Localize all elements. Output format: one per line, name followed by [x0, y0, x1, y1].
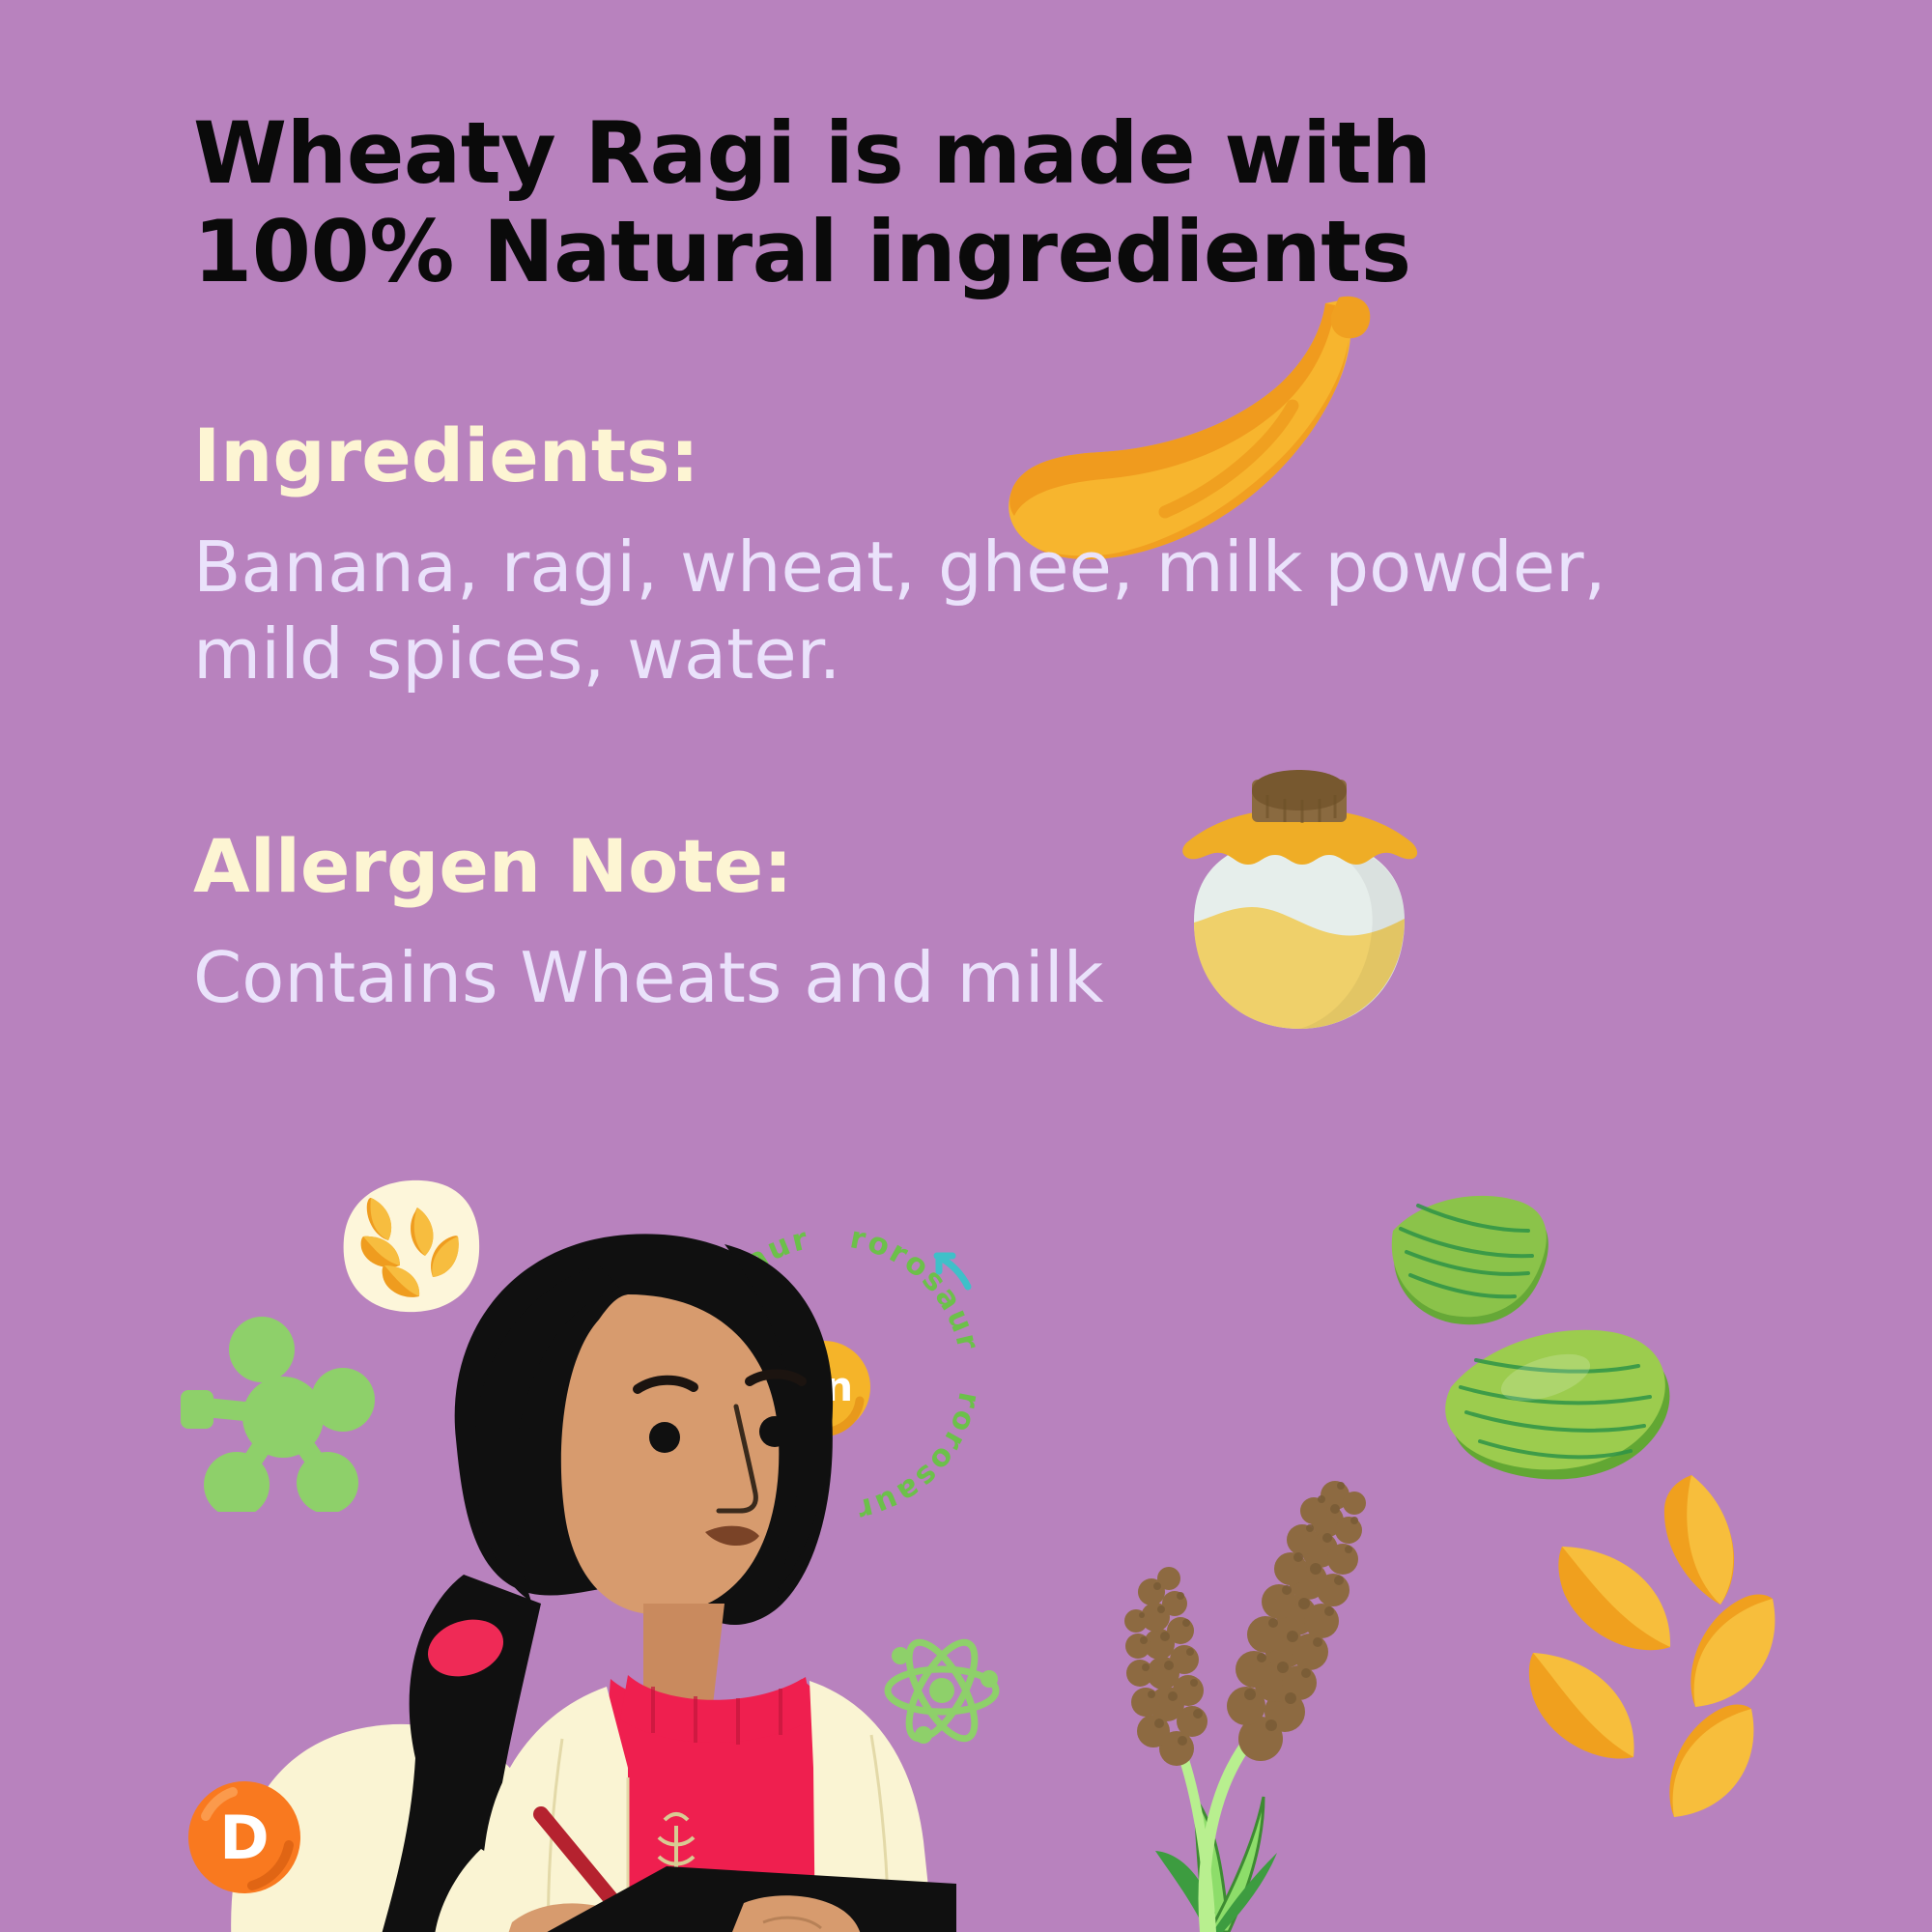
wheat-grains-illustration: [1492, 1463, 1879, 1860]
ingredients-body: Banana, ragi, wheat, ghee, milk powder, …: [193, 524, 1739, 698]
allergen-heading: Allergen Note:: [193, 826, 1777, 907]
allergen-heading-colon: :: [763, 823, 792, 909]
ingredients-heading-colon: :: [669, 412, 698, 498]
poster-canvas: rorosaur rorosaur rorosaur rorosaur Zn: [0, 0, 1932, 1932]
ingredients-section: Ingredients: Banana, ragi, wheat, ghee, …: [193, 415, 1777, 698]
ingredients-heading: Ingredients:: [193, 415, 1777, 497]
vitamin-d-badge: D: [177, 1770, 312, 1905]
grain-bowl-icon: [328, 1177, 488, 1317]
basil-leaves-illustration: [1372, 1188, 1777, 1497]
ragi-millet-illustration: [1092, 1459, 1507, 1932]
vitamin-d-badge-label: D: [219, 1803, 269, 1873]
allergen-body: Contains Wheats and milk: [193, 934, 1739, 1022]
content-column: Wheaty Ragi is made with 100% Natural in…: [193, 104, 1777, 1022]
allergen-section: Allergen Note: Contains Wheats and milk: [193, 826, 1777, 1021]
ingredients-heading-label: Ingredients: [193, 412, 669, 498]
allergen-heading-label: Allergen Note: [193, 823, 763, 909]
page-title: Wheaty Ragi is made with 100% Natural in…: [193, 104, 1623, 301]
